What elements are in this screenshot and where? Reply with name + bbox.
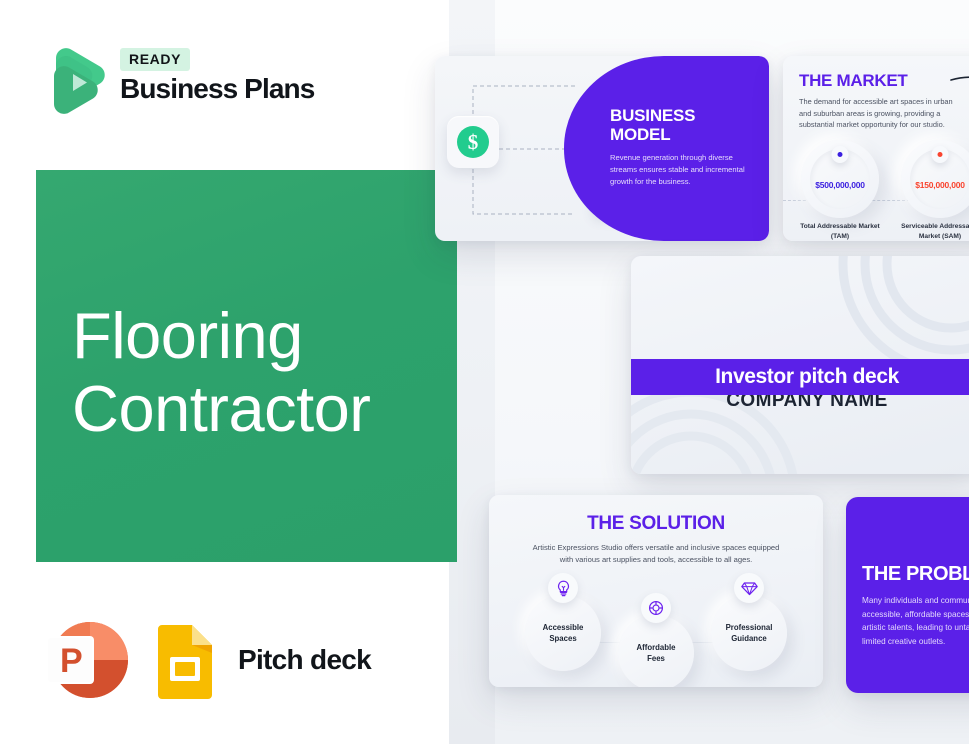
company-subtitle-band: Investor pitch deck bbox=[631, 359, 969, 395]
svg-text:P: P bbox=[60, 642, 83, 680]
problem-body: Many individuals and communities lack ac… bbox=[862, 594, 969, 648]
dot-marker bbox=[838, 152, 843, 157]
market-metric-circle: $150,000,000 bbox=[901, 140, 969, 218]
software-formats: P Pitch deck bbox=[40, 616, 371, 704]
solution-node-label: Affordable Fees bbox=[637, 642, 676, 665]
metric-value: $500,000,000 bbox=[801, 180, 879, 190]
metric-caption: Serviceable Addressable Market (SAM) bbox=[892, 222, 969, 241]
dot-marker bbox=[938, 152, 943, 157]
node-label-line-2: Fees bbox=[647, 654, 665, 663]
business-model-purple-shape: BUSINESS MODEL Revenue generation throug… bbox=[564, 56, 769, 241]
poster-canvas: Flooring Contractor READY Business Plans bbox=[0, 0, 969, 744]
google-slides-icon bbox=[154, 621, 216, 699]
brand-logo: READY Business Plans bbox=[40, 36, 314, 114]
play-triangle-logo-icon bbox=[40, 36, 106, 114]
node-label-line-1: Accessible bbox=[543, 623, 584, 632]
target-circle-icon bbox=[641, 593, 671, 623]
node-label-line-1: Professional bbox=[726, 623, 773, 632]
metric-caption: Total Addressable Market (TAM) bbox=[792, 222, 888, 241]
business-model-text-block: BUSINESS MODEL Revenue generation throug… bbox=[610, 106, 750, 187]
company-subtitle: Investor pitch deck bbox=[715, 365, 899, 389]
business-model-body: Revenue generation through diverse strea… bbox=[610, 152, 750, 187]
solution-node[interactable]: Professional Guidance bbox=[711, 595, 787, 671]
solution-node-label: Accessible Spaces bbox=[543, 622, 584, 645]
slide-the-solution[interactable]: THE SOLUTION Artistic Expressions Studio… bbox=[489, 495, 823, 687]
solution-heading: THE SOLUTION bbox=[489, 513, 823, 535]
heading-line-1: BUSINESS bbox=[610, 106, 750, 125]
solution-body: Artistic Expressions Studio offers versa… bbox=[531, 542, 781, 567]
solution-node[interactable]: Accessible Spaces bbox=[525, 595, 601, 671]
market-body: The demand for accessible art spaces in … bbox=[799, 96, 959, 131]
brand-name: Business Plans bbox=[120, 75, 314, 103]
problem-heading: THE PROBLEM bbox=[862, 563, 969, 586]
slide-the-problem[interactable]: THE PROBLEM Many individuals and communi… bbox=[846, 497, 969, 693]
node-label-line-2: Guidance bbox=[731, 634, 767, 643]
slide-business-model[interactable]: $ Drop-in Fees Session Workshops Commiss… bbox=[435, 56, 769, 241]
software-label: Pitch deck bbox=[238, 644, 371, 676]
node-label-line-2: Spaces bbox=[549, 634, 576, 643]
page-title: Flooring Contractor bbox=[72, 300, 472, 446]
ready-badge: READY bbox=[120, 48, 190, 71]
diamond-icon bbox=[734, 573, 764, 603]
solution-node-label: Professional Guidance bbox=[726, 622, 773, 645]
heading-line-2: MODEL bbox=[610, 125, 750, 144]
hero-title-line-1: Flooring bbox=[72, 300, 472, 373]
brand-text: READY Business Plans bbox=[120, 48, 314, 103]
dot-marker-icon bbox=[932, 146, 949, 163]
metric-value: $150,000,000 bbox=[901, 180, 969, 190]
solution-node[interactable]: Affordable Fees bbox=[618, 615, 694, 687]
node-label-line-1: Affordable bbox=[637, 643, 676, 652]
dollar-symbol: $ bbox=[457, 126, 489, 158]
dot-marker-icon bbox=[832, 146, 849, 163]
slide-company-name[interactable]: COMPANY NAME Investor pitch deck bbox=[631, 256, 969, 474]
powerpoint-icon: P bbox=[40, 616, 132, 704]
market-heading: THE MARKET bbox=[799, 71, 907, 91]
market-metric-circle: $500,000,000 bbox=[801, 140, 879, 218]
slide-the-market[interactable]: THE MARKET The demand for accessible art… bbox=[783, 56, 969, 241]
business-model-heading: BUSINESS MODEL bbox=[610, 106, 750, 144]
curved-arrow-icon bbox=[949, 74, 969, 129]
hero-title-line-2: Contractor bbox=[72, 373, 472, 446]
dollar-icon: $ bbox=[447, 116, 499, 168]
lightbulb-icon bbox=[548, 573, 578, 603]
